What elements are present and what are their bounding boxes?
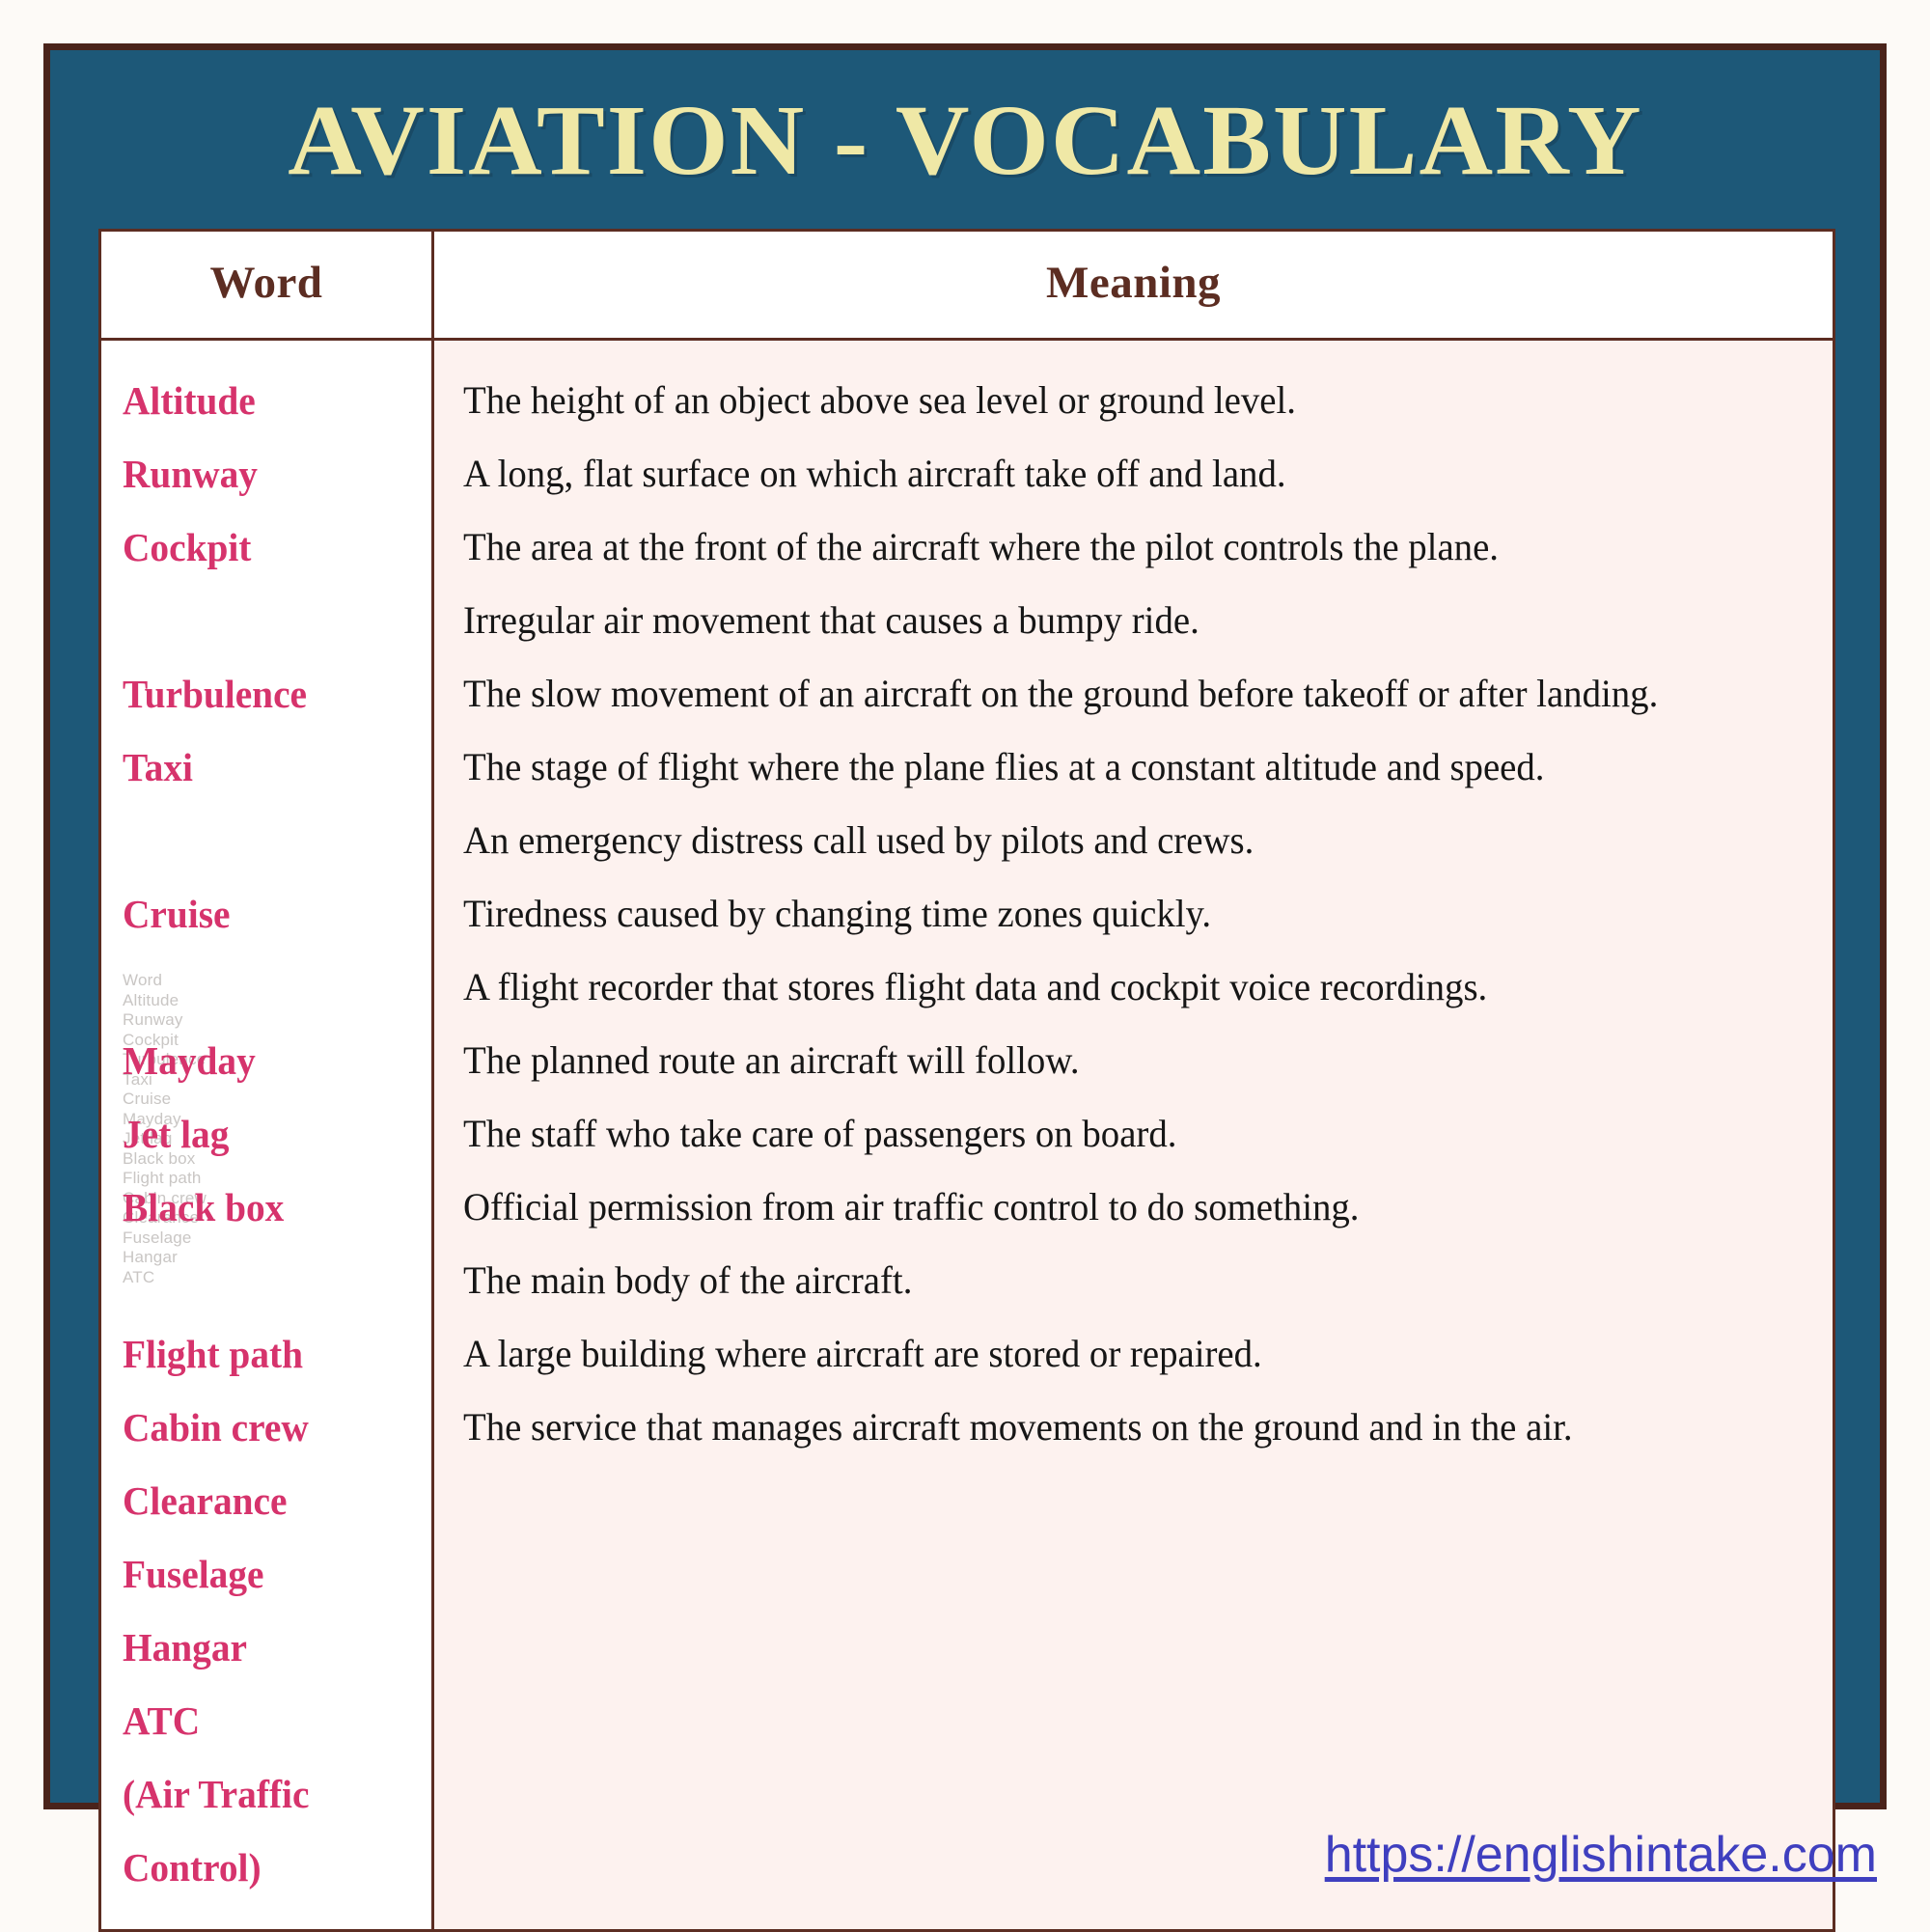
word-cell: Cabin crew [123,1391,419,1464]
meaning-list: The height of an object above sea level … [463,364,1833,1537]
meaning-cell: A long, flat surface on which aircraft t… [463,437,1769,511]
poster-root: AVIATION - VOCABULARY Word Meaning WordA… [0,0,1930,1930]
meaning-cell: A large building where aircraft are stor… [463,1317,1769,1391]
vocabulary-table: Word Meaning WordAltitudeRunwayCockpitTu… [98,229,1835,1932]
word-cell: Jet lag [123,1097,419,1171]
word-cell: Cruise [123,877,419,951]
title-container: AVIATION - VOCABULARY [50,87,1880,195]
meaning-cell: Irregular air movement that causes a bum… [463,584,1769,657]
meaning-cell: An emergency distress call used by pilot… [463,804,1769,877]
meaning-cell: The slow movement of an aircraft on the … [463,657,1769,731]
word-cell: ATC [123,1684,419,1757]
word-cell: Hangar [123,1611,419,1684]
table-body: WordAltitudeRunwayCockpitTurbulenceTaxiC… [101,341,1833,1929]
word-cell: (Air Traffic [123,1757,419,1831]
meaning-cell: A flight recorder that stores flight dat… [463,951,1769,1024]
meaning-cell: The service that manages aircraft moveme… [463,1391,1769,1464]
meaning-cell: Tiredness caused by changing time zones … [463,877,1769,951]
meaning-cell: The staff who take care of passengers on… [463,1097,1769,1171]
word-cell: Mayday [123,1024,419,1097]
word-cell: Cockpit [123,511,419,584]
meaning-cell: The stage of flight where the plane flie… [463,731,1769,804]
meaning-cell: The area at the front of the aircraft wh… [463,511,1769,584]
meaning-column: The height of an object above sea level … [434,341,1833,1929]
table-header-row: Word Meaning [101,232,1833,341]
header-cell-word: Word [101,232,434,338]
header-cell-meaning: Meaning [434,232,1833,338]
word-cell: Taxi [123,731,419,804]
meaning-cell: The main body of the aircraft. [463,1244,1769,1317]
word-cell: Runway [123,437,419,511]
word-cell: Black box [123,1171,419,1244]
meaning-cell: The planned route an aircraft will follo… [463,1024,1769,1097]
word-cell: Fuselage [123,1537,419,1611]
word-list: AltitudeRunwayCockpit TurbulenceTaxi Cru… [123,364,431,1904]
meaning-cell: Official permission from air traffic con… [463,1171,1769,1244]
header-label-meaning: Meaning [1046,258,1221,308]
word-cell: Turbulence [123,657,419,731]
meaning-cell: The height of an object above sea level … [463,364,1769,437]
header-label-word: Word [210,258,323,308]
website-link[interactable]: https://englishintake.com [1325,1827,1877,1883]
word-cell: Flight path [123,1317,419,1391]
word-cell: Altitude [123,364,419,437]
word-cell: Clearance [123,1464,419,1537]
word-column: WordAltitudeRunwayCockpitTurbulenceTaxiC… [101,341,434,1929]
page-title: AVIATION - VOCABULARY [288,87,1642,195]
word-cell: Control) [123,1831,419,1904]
main-panel: AVIATION - VOCABULARY Word Meaning WordA… [43,43,1887,1809]
